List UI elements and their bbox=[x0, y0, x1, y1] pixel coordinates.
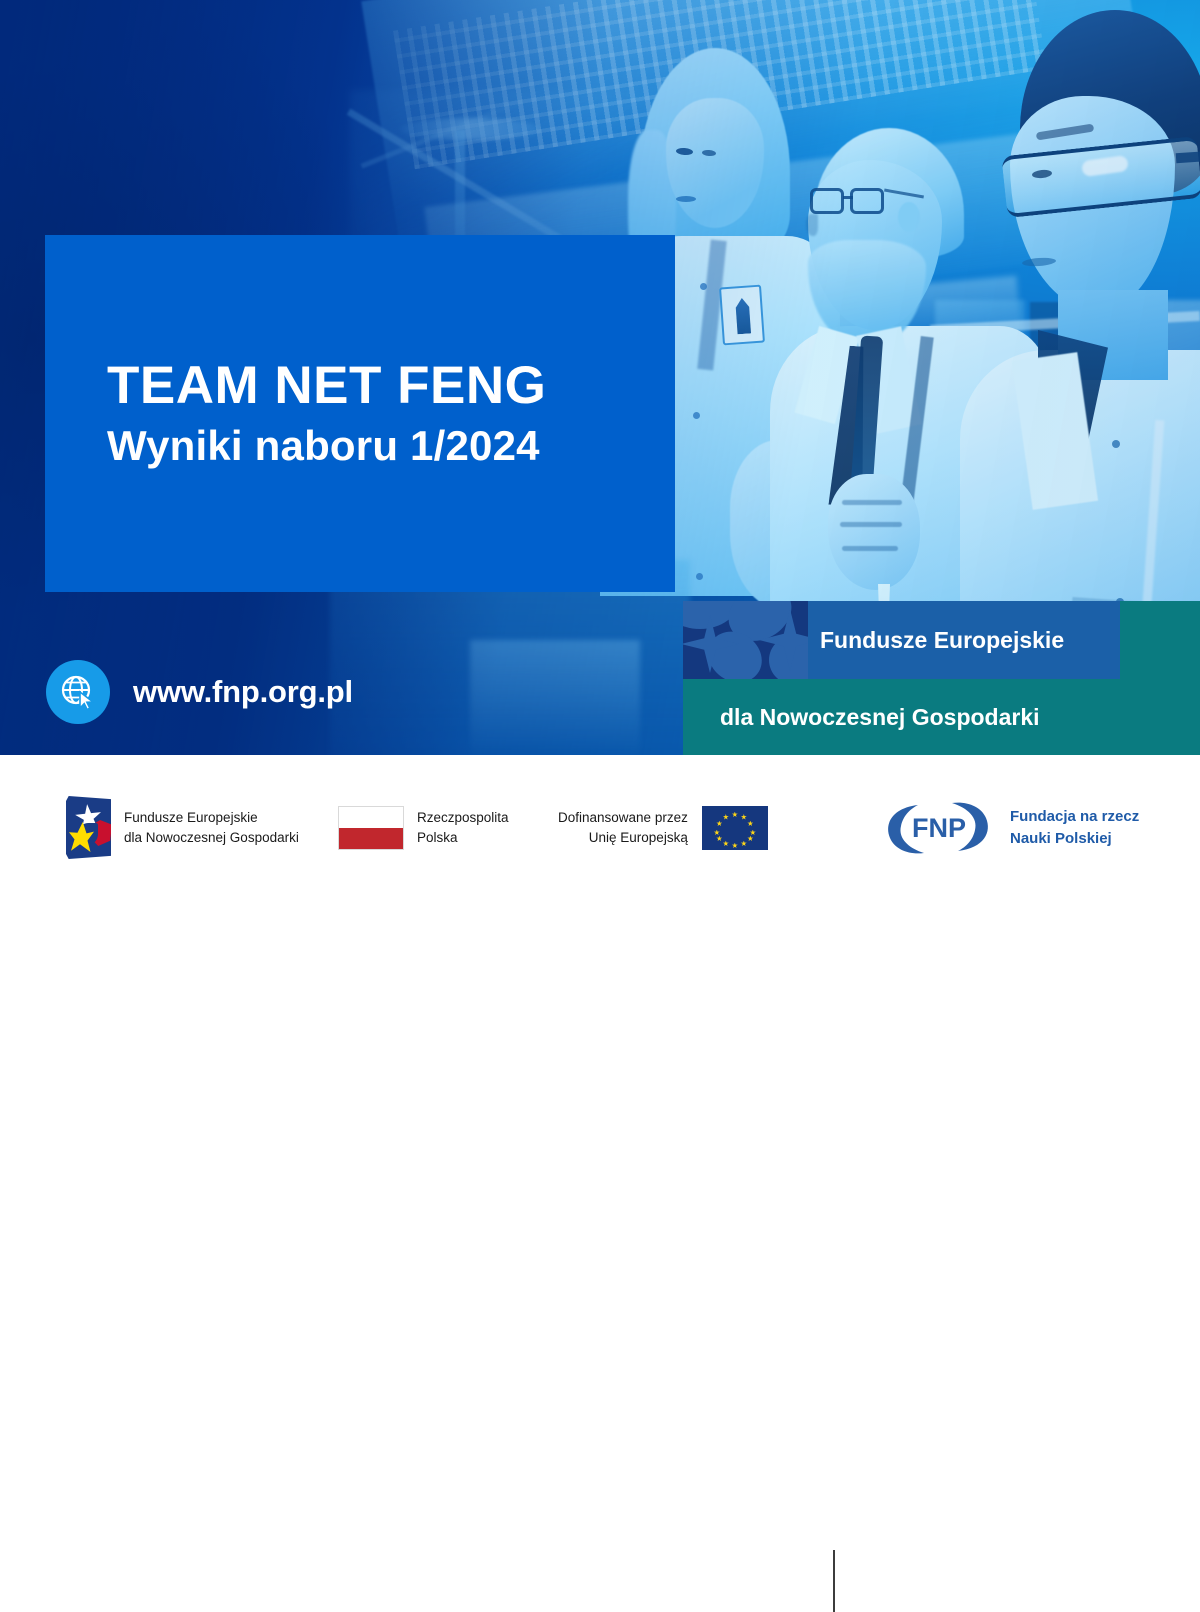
logo-caption-line1: Fundacja na rzecz bbox=[1010, 806, 1139, 828]
logo-caption-line2: Nauki Polskiej bbox=[1010, 828, 1139, 850]
fnp-logo: FNP bbox=[884, 800, 994, 856]
program-banner-top: Fundusze Europejskie bbox=[683, 601, 1200, 679]
eu-star-icon bbox=[716, 836, 722, 842]
title-card: TEAM NET FENG Wyniki naboru 1/2024 bbox=[45, 235, 675, 592]
eu-star-icon bbox=[732, 843, 738, 849]
eu-star-icon bbox=[741, 841, 747, 847]
footer-logo-bar: Fundusze Europejskie dla Nowoczesnej Gos… bbox=[0, 755, 1200, 900]
eu-star-icon bbox=[750, 830, 756, 836]
website-link[interactable]: www.fnp.org.pl bbox=[46, 660, 353, 724]
eu-star-icon bbox=[723, 841, 729, 847]
logo-caption: Dofinansowane przez Unię Europejską bbox=[558, 808, 688, 846]
eu-star-icon bbox=[732, 812, 738, 818]
hero-section: TEAM NET FENG Wyniki naboru 1/2024 www.f… bbox=[0, 0, 1200, 755]
globe-cursor-icon[interactable] bbox=[46, 660, 110, 724]
logo-fundusze-europejskie: Fundusze Europejskie dla Nowoczesnej Gos… bbox=[66, 796, 299, 859]
eu-star-icon bbox=[747, 821, 753, 827]
logo-unia-europejska: Dofinansowane przez Unię Europejską bbox=[558, 806, 768, 850]
logo-caption-line1: Rzeczpospolita bbox=[417, 808, 509, 827]
logo-caption-line1: Fundusze Europejskie bbox=[124, 808, 299, 827]
website-url-label[interactable]: www.fnp.org.pl bbox=[133, 674, 353, 710]
program-banner: Fundusze Europejskie dla Nowoczesnej Gos… bbox=[683, 601, 1200, 755]
program-banner-line2: dla Nowoczesnej Gospodarki bbox=[683, 679, 1200, 755]
logo-caption-line2: Polska bbox=[417, 828, 509, 847]
svg-text:FNP: FNP bbox=[912, 813, 966, 843]
page-subtitle: Wyniki naboru 1/2024 bbox=[107, 422, 675, 470]
poland-flag-red-band bbox=[339, 828, 403, 849]
eu-star-icon bbox=[747, 836, 753, 842]
decorative-star-pattern bbox=[683, 601, 808, 679]
poland-flag-icon bbox=[338, 806, 404, 850]
logo-caption-line1: Dofinansowane przez bbox=[558, 808, 688, 827]
logo-caption: Fundacja na rzecz Nauki Polskiej bbox=[1010, 806, 1139, 850]
logo-caption: Rzeczpospolita Polska bbox=[417, 808, 509, 846]
page-title: TEAM NET FENG bbox=[107, 357, 675, 414]
logo-caption-line2: Unię Europejską bbox=[558, 828, 688, 847]
program-banner-teal-cap bbox=[1120, 601, 1200, 679]
eu-flag-icon bbox=[702, 806, 768, 850]
eu-star-icon bbox=[716, 821, 722, 827]
logo-rzeczpospolita-polska: Rzeczpospolita Polska bbox=[338, 806, 509, 850]
poster-canvas: TEAM NET FENG Wyniki naboru 1/2024 www.f… bbox=[0, 0, 1200, 900]
logo-caption-line2: dla Nowoczesnej Gospodarki bbox=[124, 828, 299, 847]
eu-star-icon bbox=[714, 830, 720, 836]
eu-star-icon bbox=[723, 814, 729, 820]
eu-star-icon bbox=[741, 814, 747, 820]
logo-caption: Fundusze Europejskie dla Nowoczesnej Gos… bbox=[124, 808, 299, 846]
logo-fnp: FNP Fundacja na rzecz Nauki Polskiej bbox=[884, 800, 1139, 856]
fe-flag-star-logo bbox=[66, 796, 111, 859]
footer-divider bbox=[833, 1550, 835, 1612]
